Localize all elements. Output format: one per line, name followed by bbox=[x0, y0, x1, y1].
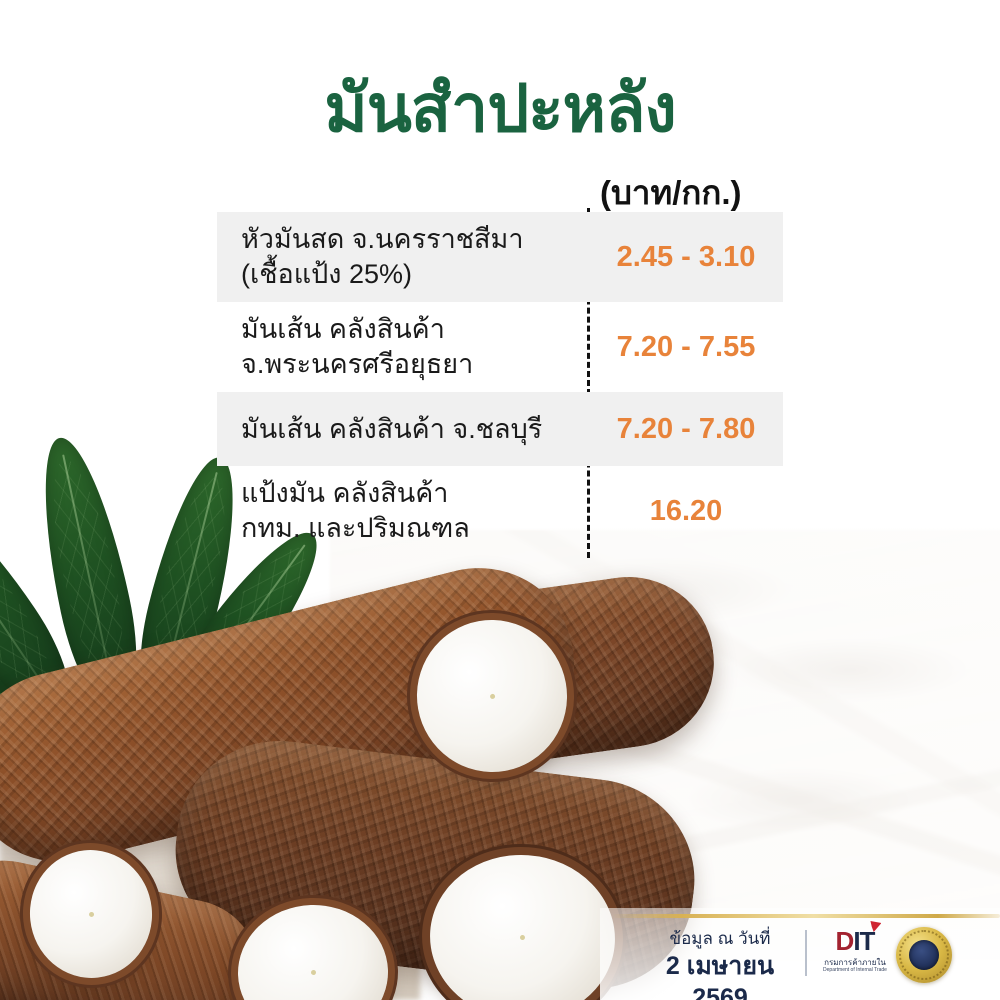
emblem-core bbox=[909, 940, 939, 970]
table-row: หัวมันสด จ.นครราชสีมา (เชื้อแป้ง 25%) 2.… bbox=[217, 212, 783, 302]
price-value: 7.20 - 7.80 bbox=[589, 413, 783, 446]
product-name-line1: มันเส้น คลังสินค้า จ.ชลบุรี bbox=[241, 412, 575, 447]
data-date-value: 2 เมษายน 2569 bbox=[640, 951, 800, 1000]
dit-name-english: Department of Internal Trade bbox=[820, 967, 890, 973]
dit-letters-it: IT bbox=[853, 926, 874, 956]
table-row: มันเส้น คลังสินค้า จ.พระนครศรีอยุธยา 7.2… bbox=[217, 302, 783, 392]
product-name: แป้งมัน คลังสินค้า กทม. และปริมณฑล bbox=[217, 466, 589, 556]
product-name-line1: มันเส้น คลังสินค้า bbox=[241, 312, 575, 347]
dit-name-thai: กรมการค้าภายใน bbox=[820, 958, 890, 967]
product-name: มันเส้น คลังสินค้า จ.ชลบุรี bbox=[217, 402, 589, 457]
data-date-label: ข้อมูล ณ วันที่ bbox=[640, 928, 800, 949]
product-name-line1: แป้งมัน คลังสินค้า bbox=[241, 476, 575, 511]
product-name-line2: (เชื้อแป้ง 25%) bbox=[241, 257, 575, 292]
product-name-line2: จ.พระนครศรีอยุธยา bbox=[241, 347, 575, 382]
government-emblem-icon bbox=[896, 927, 952, 983]
footer-gold-rule bbox=[612, 914, 1000, 918]
table-row: แป้งมัน คลังสินค้า กทม. และปริมณฑล 16.20 bbox=[217, 466, 783, 556]
product-name: หัวมันสด จ.นครราชสีมา (เชื้อแป้ง 25%) bbox=[217, 212, 589, 302]
dit-logo: DIT กรมการค้าภายใน Department of Interna… bbox=[820, 928, 890, 973]
table-row: มันเส้น คลังสินค้า จ.ชลบุรี 7.20 - 7.80 bbox=[217, 392, 783, 466]
infographic-canvas: มันสำปะหลัง (บาท/กก.) หัวมันสด จ.นครราชส… bbox=[0, 0, 1000, 1000]
price-table: หัวมันสด จ.นครราชสีมา (เชื้อแป้ง 25%) 2.… bbox=[217, 212, 783, 557]
price-value: 16.20 bbox=[589, 495, 783, 528]
page-title: มันสำปะหลัง bbox=[0, 72, 1000, 145]
price-value: 2.45 - 3.10 bbox=[589, 241, 783, 274]
data-date-block: ข้อมูล ณ วันที่ 2 เมษายน 2569 bbox=[640, 928, 800, 1000]
product-name: มันเส้น คลังสินค้า จ.พระนครศรีอยุธยา bbox=[217, 302, 589, 392]
price-value: 7.20 - 7.55 bbox=[589, 331, 783, 364]
product-name-line2: กทม. และปริมณฑล bbox=[241, 511, 575, 546]
footer-separator bbox=[805, 930, 807, 976]
product-name-line1: หัวมันสด จ.นครราชสีมา bbox=[241, 222, 575, 257]
dit-letter-d: D bbox=[836, 926, 854, 956]
dit-wordmark: DIT bbox=[836, 928, 875, 954]
